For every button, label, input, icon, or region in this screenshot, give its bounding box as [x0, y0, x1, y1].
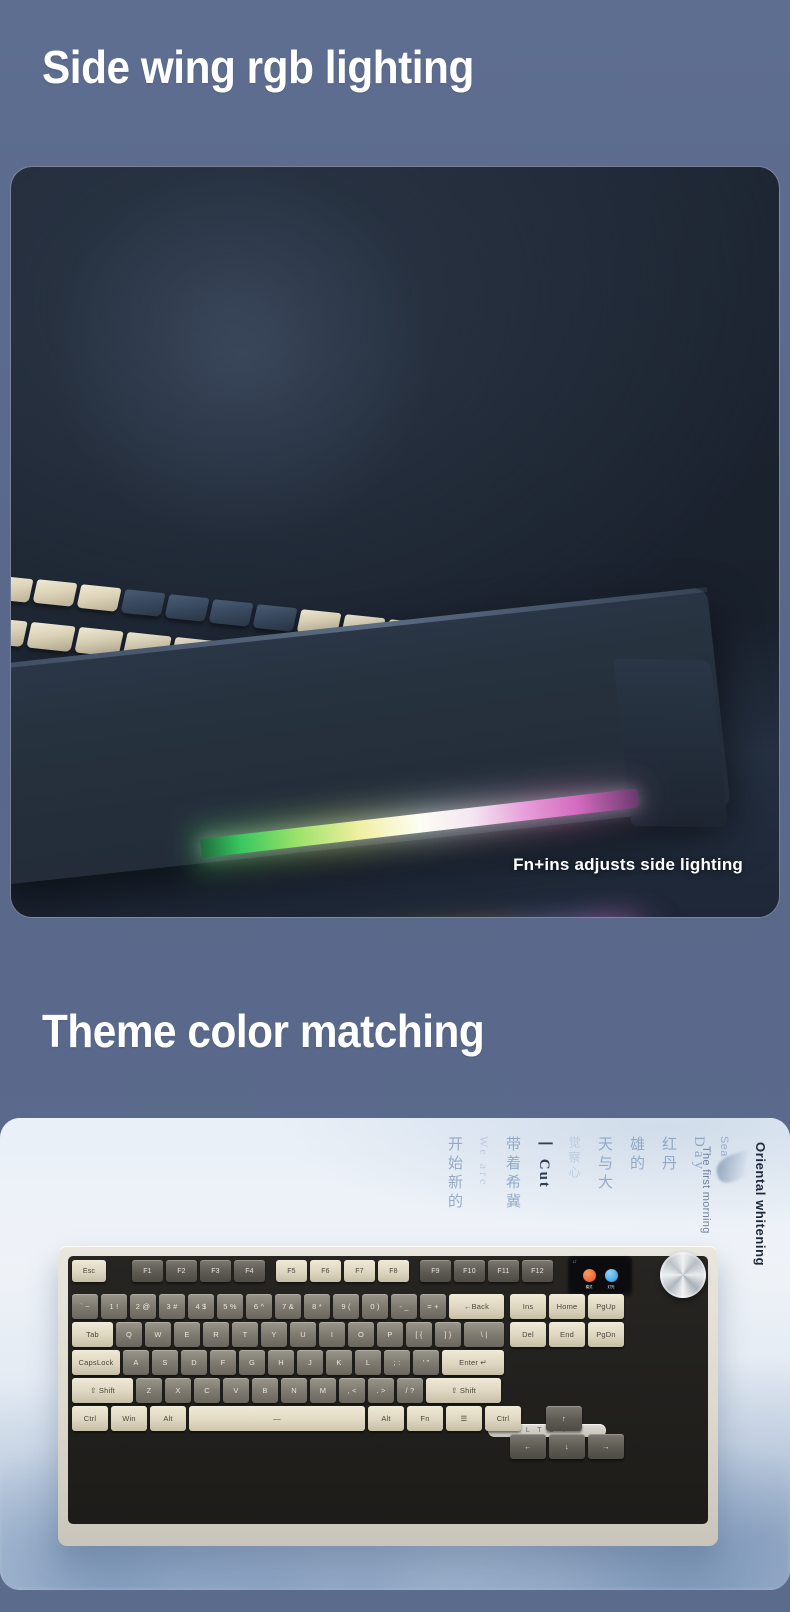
key-ctrl-right[interactable]: Ctrl — [485, 1406, 521, 1431]
shift-row: ⇧ Shift Z X C V B N M , < . > / ? ⇧ Shif… — [72, 1378, 501, 1403]
key-semicolon[interactable]: ; : — [384, 1350, 410, 1375]
key-w[interactable]: W — [145, 1322, 171, 1347]
key-minus[interactable]: - _ — [391, 1294, 417, 1319]
key-bracket-left[interactable]: [ { — [406, 1322, 432, 1347]
key-capslock[interactable]: CapsLock — [72, 1350, 120, 1375]
key-a[interactable]: A — [123, 1350, 149, 1375]
volume-knob[interactable] — [660, 1252, 706, 1298]
key-home[interactable]: Home — [549, 1294, 585, 1319]
key-backtick[interactable]: ` ~ — [72, 1294, 98, 1319]
key-quote[interactable]: ' " — [413, 1350, 439, 1375]
key-bracket-right[interactable]: ] } — [435, 1322, 461, 1347]
key-8[interactable]: 8 * — [304, 1294, 330, 1319]
key-alt-right[interactable]: Alt — [368, 1406, 404, 1431]
key-g[interactable]: G — [239, 1350, 265, 1375]
key-pgdn[interactable]: PgDn — [588, 1322, 624, 1347]
calligraphy-column-highlight: 一 Cut — [534, 1136, 555, 1189]
key-f12[interactable]: F12 — [522, 1260, 553, 1282]
calligraphy-column: 雄的 — [626, 1136, 647, 1174]
key-x[interactable]: X — [165, 1378, 191, 1403]
section-heading-theme-color-matching: Theme color matching — [42, 1004, 484, 1058]
calligraphy-column: 天与大 — [594, 1136, 615, 1193]
arrow-up-row: ↑ — [546, 1406, 582, 1431]
function-group-3: F9 F10 F11 F12 — [420, 1260, 553, 1282]
key-f3[interactable]: F3 — [200, 1260, 231, 1282]
key-0[interactable]: 0 ) — [362, 1294, 388, 1319]
key-9[interactable]: 9 ( — [333, 1294, 359, 1319]
calligraphy-column: Sea — [718, 1136, 730, 1157]
key-esc[interactable]: Esc — [72, 1260, 106, 1282]
number-row: ` ~ 1 ! 2 @ 3 # 4 $ 5 % 6 ^ 7 & 8 * 9 ( … — [72, 1294, 504, 1319]
key-n[interactable]: N — [281, 1378, 307, 1403]
section-heading-side-wing-rgb: Side wing rgb lighting — [42, 40, 474, 94]
key-slash[interactable]: / ? — [397, 1378, 423, 1403]
key-arrow-left[interactable]: ← — [510, 1434, 546, 1459]
key-arrow-right[interactable]: → — [588, 1434, 624, 1459]
key-pgup[interactable]: PgUp — [588, 1294, 624, 1319]
key-tab[interactable]: Tab — [72, 1322, 113, 1347]
function-group-1: F1 F2 F3 F4 — [132, 1260, 265, 1282]
key-f2[interactable]: F2 — [166, 1260, 197, 1282]
key-arrow-up[interactable]: ↑ — [546, 1406, 582, 1431]
lcd-label-right: 灯光 — [608, 1284, 615, 1289]
key-fn[interactable]: Fn — [407, 1406, 443, 1431]
key-b[interactable]: B — [252, 1378, 278, 1403]
calligraphy-column: 带着希冀 — [502, 1136, 523, 1212]
backdrop-sheen — [10, 166, 510, 617]
key-m[interactable]: M — [310, 1378, 336, 1403]
key-enter[interactable]: Enter ↵ — [442, 1350, 504, 1375]
key-7[interactable]: 7 & — [275, 1294, 301, 1319]
key-k[interactable]: K — [326, 1350, 352, 1375]
key-f[interactable]: F — [210, 1350, 236, 1375]
bottom-row: Ctrl Win Alt — Alt Fn ☰ Ctrl — [72, 1406, 521, 1431]
key-e[interactable]: E — [174, 1322, 200, 1347]
key-win[interactable]: Win — [111, 1406, 147, 1431]
key-c[interactable]: C — [194, 1378, 220, 1403]
blue-circle-icon: 灯光 — [605, 1269, 618, 1282]
arrow-cluster: ← ↓ → — [510, 1434, 624, 1459]
function-row: Esc — [72, 1260, 106, 1282]
key-s[interactable]: S — [152, 1350, 178, 1375]
product-photo-theme-matching: Sea Day 红丹 雄的 天与大 觉察心 一 Cut 带着希冀 We are … — [0, 1118, 790, 1590]
key-2[interactable]: 2 @ — [130, 1294, 156, 1319]
key-1[interactable]: 1 ! — [101, 1294, 127, 1319]
key-menu[interactable]: ☰ — [446, 1406, 482, 1431]
key-backspace[interactable]: ←Back — [449, 1294, 504, 1319]
function-group-2: F5 F6 F7 F8 — [276, 1260, 409, 1282]
calligraphy-column: 觉察心 — [566, 1136, 583, 1181]
calligraphy-column: We are — [476, 1136, 491, 1187]
key-del[interactable]: Del — [510, 1322, 546, 1347]
key-u[interactable]: U — [290, 1322, 316, 1347]
key-f11[interactable]: F11 — [488, 1260, 519, 1282]
key-end[interactable]: End — [549, 1322, 585, 1347]
key-v[interactable]: V — [223, 1378, 249, 1403]
vertical-label-oriental-whitening: Oriental whitening — [753, 1142, 768, 1266]
lt84-keyboard: Esc F1 F2 F3 F4 F5 F6 F7 F8 F9 F10 F11 F… — [58, 1246, 718, 1546]
key-o[interactable]: O — [348, 1322, 374, 1347]
key-q[interactable]: Q — [116, 1322, 142, 1347]
key-p[interactable]: P — [377, 1322, 403, 1347]
key-6[interactable]: 6 ^ — [246, 1294, 272, 1319]
calligraphy-column: 开始新的 — [444, 1136, 465, 1212]
calligraphy-column: 红丹 — [658, 1136, 679, 1174]
key-i[interactable]: I — [319, 1322, 345, 1347]
lcd-label-left: 模式 — [586, 1284, 593, 1289]
key-shift-right[interactable]: ⇧ Shift — [426, 1378, 501, 1403]
key-f10[interactable]: F10 — [454, 1260, 485, 1282]
caps-row: CapsLock A S D F G H J K L ; : ' " Enter… — [72, 1350, 504, 1375]
product-photo-side-lighting: Fn+ins adjusts side lighting — [10, 166, 780, 918]
nav-row-2: Del End PgDn — [510, 1322, 624, 1347]
key-f1[interactable]: F1 — [132, 1260, 163, 1282]
key-l[interactable]: L — [355, 1350, 381, 1375]
key-space[interactable]: — — [189, 1406, 365, 1431]
key-equals[interactable]: = + — [420, 1294, 446, 1319]
calligraphy-panel: Sea Day 红丹 雄的 天与大 觉察心 一 Cut 带着希冀 We are … — [444, 1136, 730, 1212]
key-j[interactable]: J — [297, 1350, 323, 1375]
lcd-tag: LT — [573, 1260, 577, 1264]
key-f9[interactable]: F9 — [420, 1260, 451, 1282]
key-d[interactable]: D — [181, 1350, 207, 1375]
key-f4[interactable]: F4 — [234, 1260, 265, 1282]
key-y[interactable]: Y — [261, 1322, 287, 1347]
key-period[interactable]: . > — [368, 1378, 394, 1403]
key-f6[interactable]: F6 — [310, 1260, 341, 1282]
key-h[interactable]: H — [268, 1350, 294, 1375]
key-t[interactable]: T — [232, 1322, 258, 1347]
key-ins[interactable]: Ins — [510, 1294, 546, 1319]
key-5[interactable]: 5 % — [217, 1294, 243, 1319]
key-shift-left[interactable]: ⇧ Shift — [72, 1378, 133, 1403]
key-ctrl-left[interactable]: Ctrl — [72, 1406, 108, 1431]
key-r[interactable]: R — [203, 1322, 229, 1347]
key-4[interactable]: 4 $ — [188, 1294, 214, 1319]
key-f8[interactable]: F8 — [378, 1260, 409, 1282]
product-page: Side wing rgb lighting — [0, 0, 790, 1612]
key-f5[interactable]: F5 — [276, 1260, 307, 1282]
key-z[interactable]: Z — [136, 1378, 162, 1403]
lcd-display[interactable]: LT 模式 灯光 — [568, 1256, 632, 1294]
photo-caption-fn-ins: Fn+ins adjusts side lighting — [513, 855, 743, 875]
key-f7[interactable]: F7 — [344, 1260, 375, 1282]
nav-row-1: Ins Home PgUp — [510, 1294, 624, 1319]
key-comma[interactable]: , < — [339, 1378, 365, 1403]
key-3[interactable]: 3 # — [159, 1294, 185, 1319]
key-backslash[interactable]: \ | — [464, 1322, 504, 1347]
key-arrow-down[interactable]: ↓ — [549, 1434, 585, 1459]
key-alt-left[interactable]: Alt — [150, 1406, 186, 1431]
tab-row: Tab Q W E R T Y U I O P [ { ] } \ | — [72, 1322, 504, 1347]
vertical-label-first-morning: The first morning — [700, 1146, 712, 1234]
orange-circle-icon: 模式 — [583, 1269, 596, 1282]
